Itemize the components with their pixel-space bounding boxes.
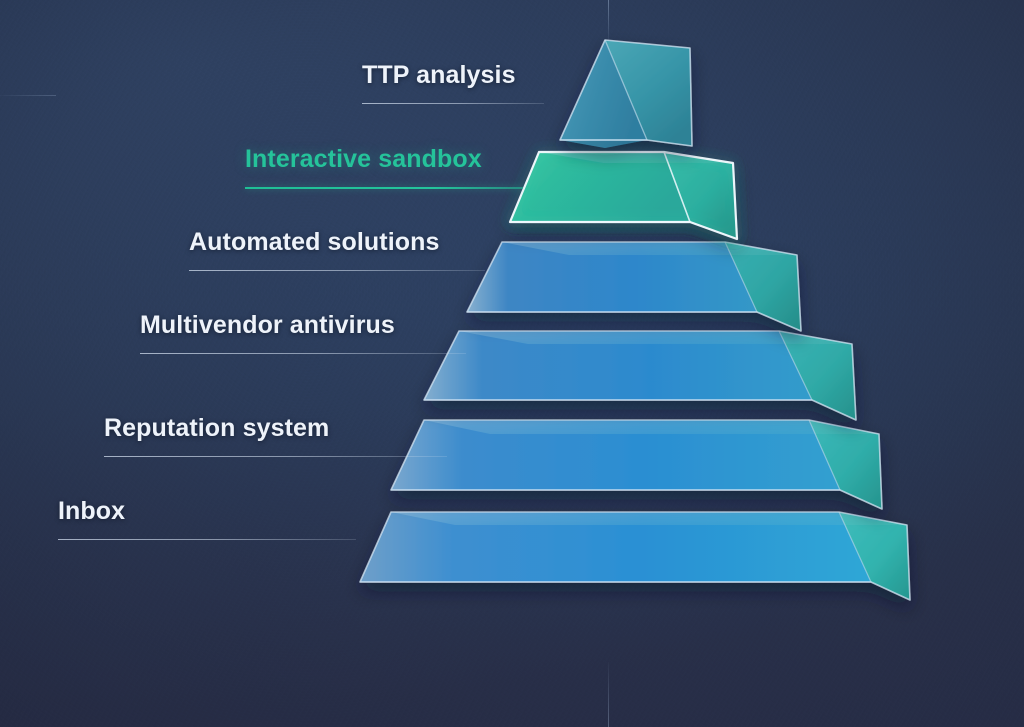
pyramid-tier-inbox[interactable]	[360, 512, 910, 600]
label-automated-solutions-rule	[189, 270, 485, 271]
pyramid-tier-automated-solutions[interactable]	[467, 242, 801, 331]
label-inbox-text: Inbox	[58, 498, 356, 526]
label-reputation-system[interactable]: Reputation system	[104, 415, 447, 457]
label-ttp-analysis[interactable]: TTP analysis	[362, 62, 544, 104]
label-interactive-sandbox-rule	[245, 187, 523, 189]
pyramid-tier-interactive-sandbox[interactable]	[510, 152, 737, 239]
label-multivendor-antivirus-text: Multivendor antivirus	[140, 312, 466, 340]
label-automated-solutions-text: Automated solutions	[189, 229, 485, 257]
pyramid-tier-ttp-analysis[interactable]	[560, 40, 692, 148]
label-inbox-rule	[58, 539, 356, 540]
label-reputation-system-rule	[104, 456, 447, 457]
label-ttp-analysis-rule	[362, 103, 544, 104]
label-automated-solutions[interactable]: Automated solutions	[189, 229, 485, 271]
label-ttp-analysis-text: TTP analysis	[362, 62, 544, 90]
label-multivendor-antivirus[interactable]: Multivendor antivirus	[140, 312, 466, 354]
label-interactive-sandbox-text: Interactive sandbox	[245, 146, 523, 174]
label-multivendor-antivirus-rule	[140, 353, 466, 354]
pyramid-infographic: TTP analysis Interactive sandbox Automat…	[0, 0, 1024, 727]
label-reputation-system-text: Reputation system	[104, 415, 447, 443]
layered-pyramid-graphic	[0, 0, 1024, 727]
pyramid-tier-multivendor-antivirus[interactable]	[424, 331, 856, 420]
label-interactive-sandbox[interactable]: Interactive sandbox	[245, 146, 523, 189]
label-inbox[interactable]: Inbox	[58, 498, 356, 540]
tier-reputation-top-face	[424, 420, 879, 434]
tier-inbox-top-face	[391, 512, 907, 525]
pyramid-tier-reputation-system[interactable]	[391, 420, 882, 509]
